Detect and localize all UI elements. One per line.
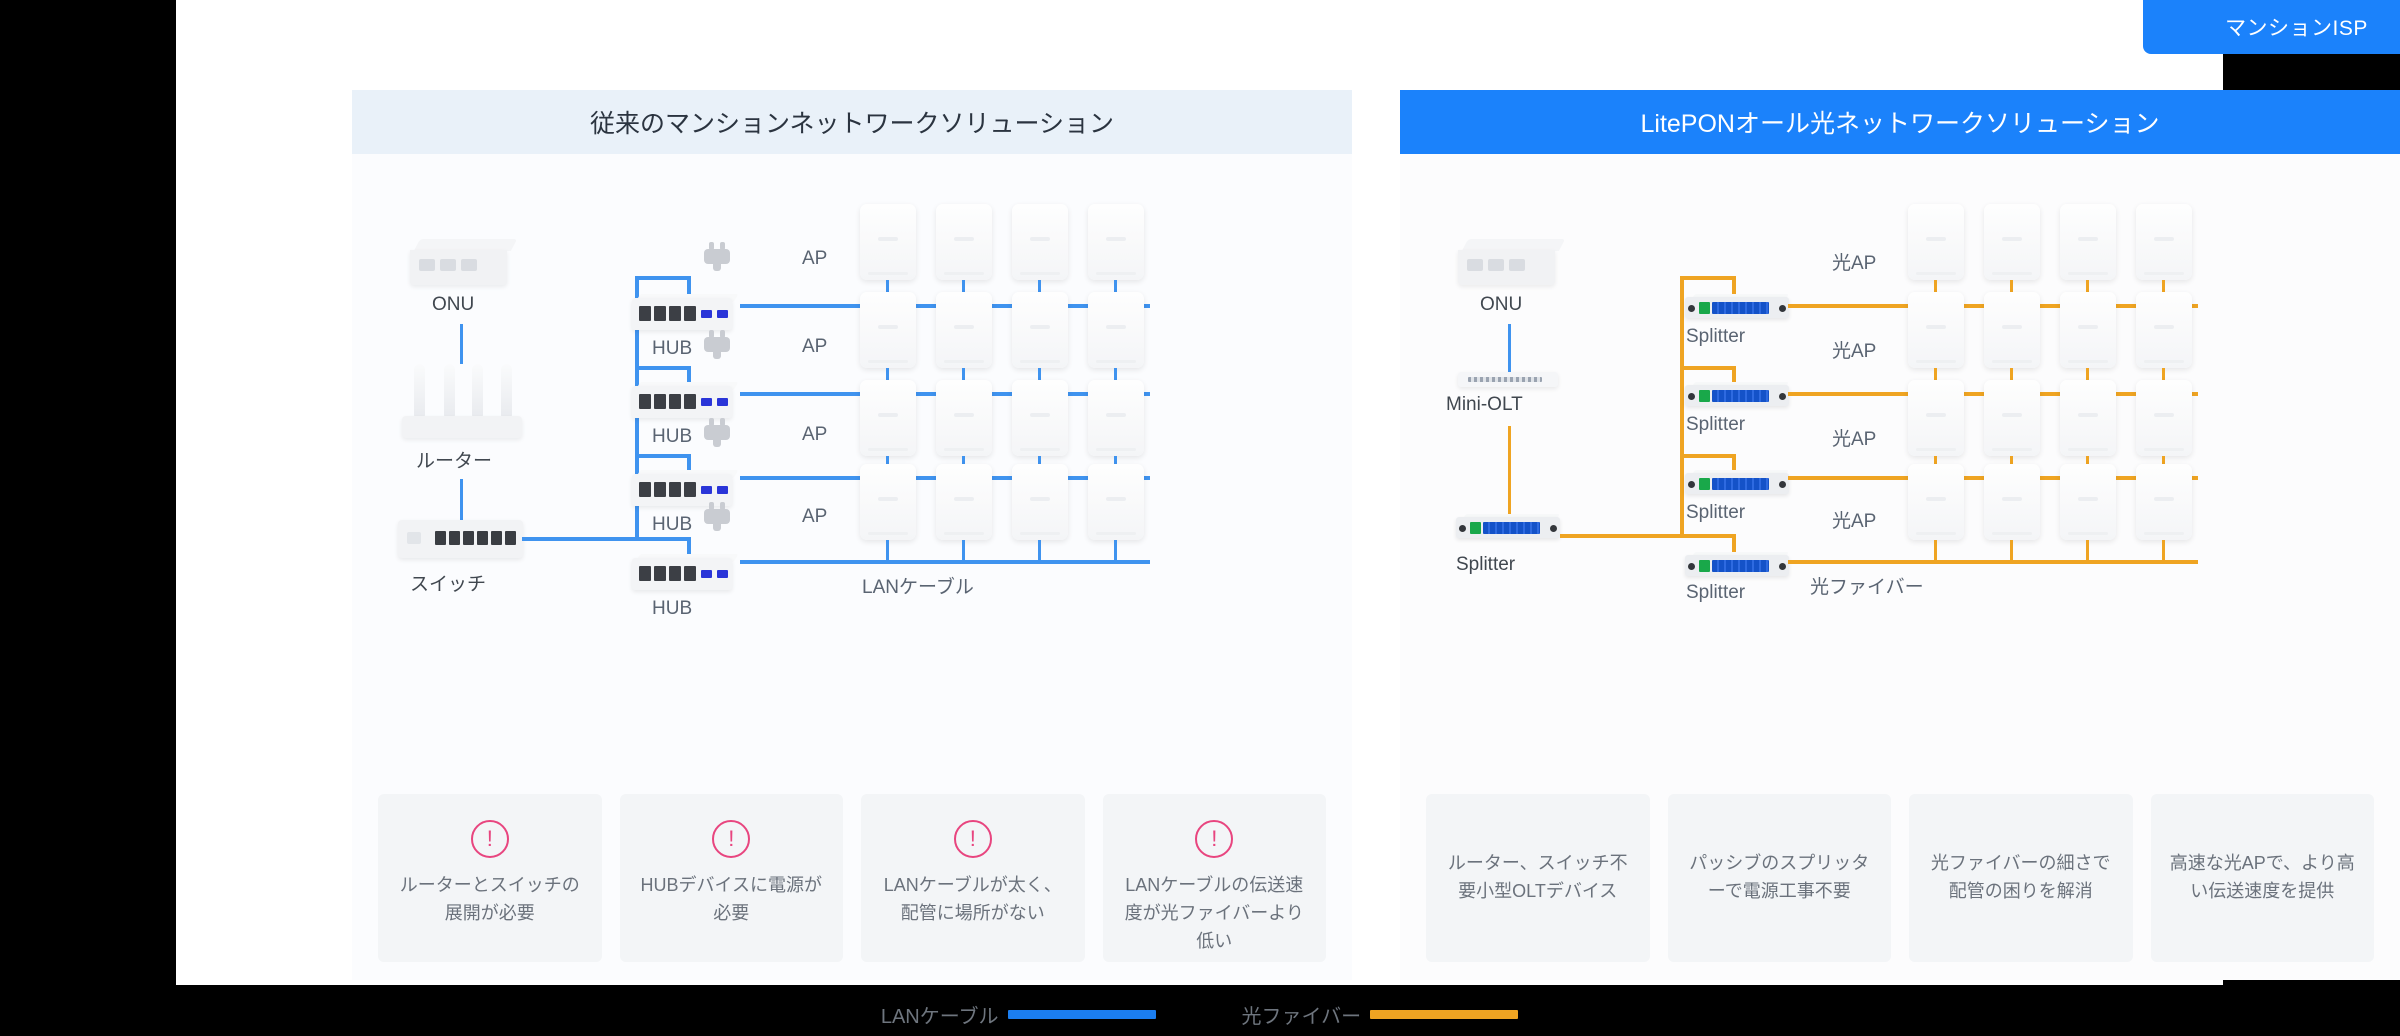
legend-swatch-lan [1008, 1010, 1156, 1019]
benefit-card: 高速な光APで、より高い伝送速度を提供 [2151, 794, 2375, 962]
label-ap-row-1: AP [802, 248, 827, 270]
label-splitter-2: Splitter [1686, 414, 1745, 436]
device-ap-r3c4 [1088, 380, 1144, 456]
label-router: ルーター [416, 446, 492, 473]
panel-litepon-header: LitePONオール光ネットワークソリューション [1400, 90, 2400, 154]
device-ap-r2c3 [1012, 292, 1068, 368]
device-optical-ap-r2c2 [1984, 292, 2040, 368]
traditional-issue-cards: ! ルーターとスイッチの展開が必要 ! HUBデバイスに電源が必要 ! LANケ… [378, 794, 1326, 962]
device-splitter-2 [1685, 382, 1789, 406]
link-branch-1 [635, 276, 691, 280]
label-mini-olt: Mini-OLT [1446, 394, 1523, 416]
link-fiber-trunk [1560, 534, 1682, 538]
label-splitter-1: Splitter [1686, 326, 1745, 348]
legend-label-lan: LANケーブル [881, 1000, 999, 1029]
label-hub-3: HUB [652, 514, 692, 536]
link-router-switch [460, 479, 463, 522]
label-lan-cable: LANケーブル [862, 572, 974, 599]
device-ap-r2c1 [860, 292, 916, 368]
device-ap-r1c2 [936, 204, 992, 280]
issue-card: ! LANケーブルの伝送速度が光ファイバーより低い [1103, 794, 1327, 962]
warning-icon: ! [471, 820, 509, 858]
label-splitter-main: Splitter [1456, 554, 1515, 576]
label-optical-ap-row-2: 光AP [1832, 336, 1876, 363]
device-ap-r4c1 [860, 464, 916, 540]
benefit-card-text: ルーター、スイッチ不要小型OLTデバイス [1444, 850, 1632, 906]
device-optical-ap-r4c4 [2136, 464, 2192, 540]
cable-legend: LANケーブル 光ファイバー [176, 1000, 2223, 1036]
device-optical-ap-r3c2 [1984, 380, 2040, 456]
panel-traditional-header: 従来のマンションネットワークソリューション [352, 90, 1352, 154]
link-fiber-branch-3 [1680, 454, 1736, 458]
issue-card-text: LANケーブルが太く、配管に場所がない [879, 872, 1067, 928]
legend-item-lan: LANケーブル [881, 1000, 1156, 1029]
device-splitter-main [1456, 514, 1560, 538]
badge-label: マンションISP [2225, 12, 2368, 42]
panel-litepon: LitePONオール光ネットワークソリューション ONU Mini-OLT Sp… [1400, 90, 2400, 980]
device-optical-ap-r3c3 [2060, 380, 2116, 456]
issue-card: ! HUBデバイスに電源が必要 [620, 794, 844, 962]
link-branch-2 [635, 366, 691, 370]
device-ap-r1c1 [860, 204, 916, 280]
panel-traditional-title: 従来のマンションネットワークソリューション [590, 104, 1114, 140]
link-fiber-vertical-bus [1680, 276, 1684, 538]
label-hub-4: HUB [652, 598, 692, 620]
device-optical-ap-r1c3 [2060, 204, 2116, 280]
legend-swatch-fiber [1370, 1010, 1518, 1019]
issue-card: ! ルーターとスイッチの展開が必要 [378, 794, 602, 962]
device-optical-ap-r1c4 [2136, 204, 2192, 280]
device-hub-4 [632, 554, 740, 590]
label-splitter-4: Splitter [1686, 582, 1745, 604]
link-ap-drop-r4c4 [1114, 540, 1117, 562]
issue-card-text: LANケーブルの伝送速度が光ファイバーより低い [1120, 872, 1308, 956]
link-optical-bus-4 [1788, 560, 2198, 564]
device-ap-r2c2 [936, 292, 992, 368]
link-branch-4 [635, 537, 691, 541]
link-fiber-branch-1 [1680, 276, 1736, 280]
device-ap-r4c4 [1088, 464, 1144, 540]
device-optical-ap-r4c2 [1984, 464, 2040, 540]
link-ap-drop-r4c1 [886, 540, 889, 562]
device-onu [410, 239, 514, 285]
power-plug-icon-2 [704, 330, 730, 362]
label-onu: ONU [432, 294, 474, 316]
device-optical-ap-r2c1 [1908, 292, 1964, 368]
device-optical-ap-r3c4 [2136, 380, 2192, 456]
label-optical-ap-row-1: 光AP [1832, 248, 1876, 275]
panel-litepon-title: LitePONオール光ネットワークソリューション [1641, 104, 2160, 140]
device-switch [398, 520, 523, 558]
device-hub-3 [632, 470, 740, 506]
device-ap-r3c3 [1012, 380, 1068, 456]
benefit-card: ルーター、スイッチ不要小型OLTデバイス [1426, 794, 1650, 962]
screenshot-stage: マンションISP 従来のマンションネットワークソリューション ONU ルータ [0, 0, 2400, 1036]
device-optical-ap-r4c1 [1908, 464, 1964, 540]
device-optical-ap-r2c4 [2136, 292, 2192, 368]
issue-card: ! LANケーブルが太く、配管に場所がない [861, 794, 1085, 962]
power-plug-icon-1 [704, 242, 730, 274]
link-ap-bus-4 [740, 560, 1150, 564]
device-optical-ap-r3c1 [1908, 380, 1964, 456]
panel-traditional-body: ONU ルーター スイッチ [352, 154, 1352, 980]
device-ap-r4c2 [936, 464, 992, 540]
device-optical-ap-r1c2 [1984, 204, 2040, 280]
link-fiber-branch-4 [1680, 534, 1736, 538]
power-plug-icon-3 [704, 418, 730, 450]
device-optical-ap-r2c3 [2060, 292, 2116, 368]
link-ap-drop-r4c3 [1038, 540, 1041, 562]
device-onu-optical [1458, 239, 1562, 285]
label-splitter-3: Splitter [1686, 502, 1745, 524]
label-switch: スイッチ [410, 569, 486, 596]
panel-traditional: 従来のマンションネットワークソリューション ONU ルーター [352, 90, 1352, 980]
slide-canvas: マンションISP 従来のマンションネットワークソリューション ONU ルータ [176, 0, 2223, 985]
legend-label-fiber: 光ファイバー [1242, 1000, 1362, 1029]
warning-icon: ! [712, 820, 750, 858]
device-optical-ap-r1c1 [1908, 204, 1964, 280]
device-ap-r1c4 [1088, 204, 1144, 280]
device-hub-1 [632, 294, 740, 330]
device-mini-olt [1458, 366, 1558, 388]
benefit-card-text: 高速な光APで、より高い伝送速度を提供 [2168, 850, 2356, 906]
link-optical-drop-r4c3 [2086, 540, 2089, 562]
device-ap-r3c2 [936, 380, 992, 456]
benefit-card-text: 光ファイバーの細さで配管の困りを解消 [1927, 850, 2115, 906]
link-switch-trunk [522, 537, 637, 541]
benefit-card: パッシブのスプリッターで電源工事不要 [1668, 794, 1892, 962]
device-ap-r3c1 [860, 380, 916, 456]
mansion-isp-badge: マンションISP [2143, 0, 2400, 54]
link-ap-drop-r4c2 [962, 540, 965, 562]
link-optical-drop-r4c2 [2010, 540, 2013, 562]
link-branch-3 [635, 454, 691, 458]
litepon-benefit-cards: ルーター、スイッチ不要小型OLTデバイス パッシブのスプリッターで電源工事不要 … [1426, 794, 2374, 962]
label-optical-fiber: 光ファイバー [1810, 572, 1924, 599]
link-onu-router [460, 324, 463, 364]
benefit-card: 光ファイバーの細さで配管の困りを解消 [1909, 794, 2133, 962]
warning-icon: ! [954, 820, 992, 858]
device-splitter-1 [1685, 294, 1789, 318]
device-splitter-3 [1685, 470, 1789, 494]
device-ap-r4c3 [1012, 464, 1068, 540]
label-hub-2: HUB [652, 426, 692, 448]
issue-card-text: ルーターとスイッチの展開が必要 [396, 872, 584, 928]
power-plug-icon-4 [704, 502, 730, 534]
device-hub-2 [632, 382, 740, 418]
label-optical-ap-row-3: 光AP [1832, 424, 1876, 451]
device-ap-r2c4 [1088, 292, 1144, 368]
panel-litepon-body: ONU Mini-OLT Splitter [1400, 154, 2400, 980]
device-ap-r1c3 [1012, 204, 1068, 280]
label-hub-1: HUB [652, 338, 692, 360]
device-splitter-4 [1685, 552, 1789, 576]
warning-icon: ! [1195, 820, 1233, 858]
label-onu-optical: ONU [1480, 294, 1522, 316]
label-ap-row-2: AP [802, 336, 827, 358]
link-miniolt-splitter [1508, 426, 1511, 520]
link-optical-drop-r4c1 [1934, 540, 1937, 562]
link-optical-drop-r4c4 [2162, 540, 2165, 562]
device-optical-ap-r4c3 [2060, 464, 2116, 540]
benefit-card-text: パッシブのスプリッターで電源工事不要 [1685, 850, 1873, 906]
label-optical-ap-row-4: 光AP [1832, 506, 1876, 533]
device-router [402, 362, 522, 438]
label-ap-row-4: AP [802, 506, 827, 528]
link-fiber-branch-2 [1680, 366, 1736, 370]
legend-item-fiber: 光ファイバー [1242, 1000, 1519, 1029]
label-ap-row-3: AP [802, 424, 827, 446]
issue-card-text: HUBデバイスに電源が必要 [637, 872, 825, 928]
